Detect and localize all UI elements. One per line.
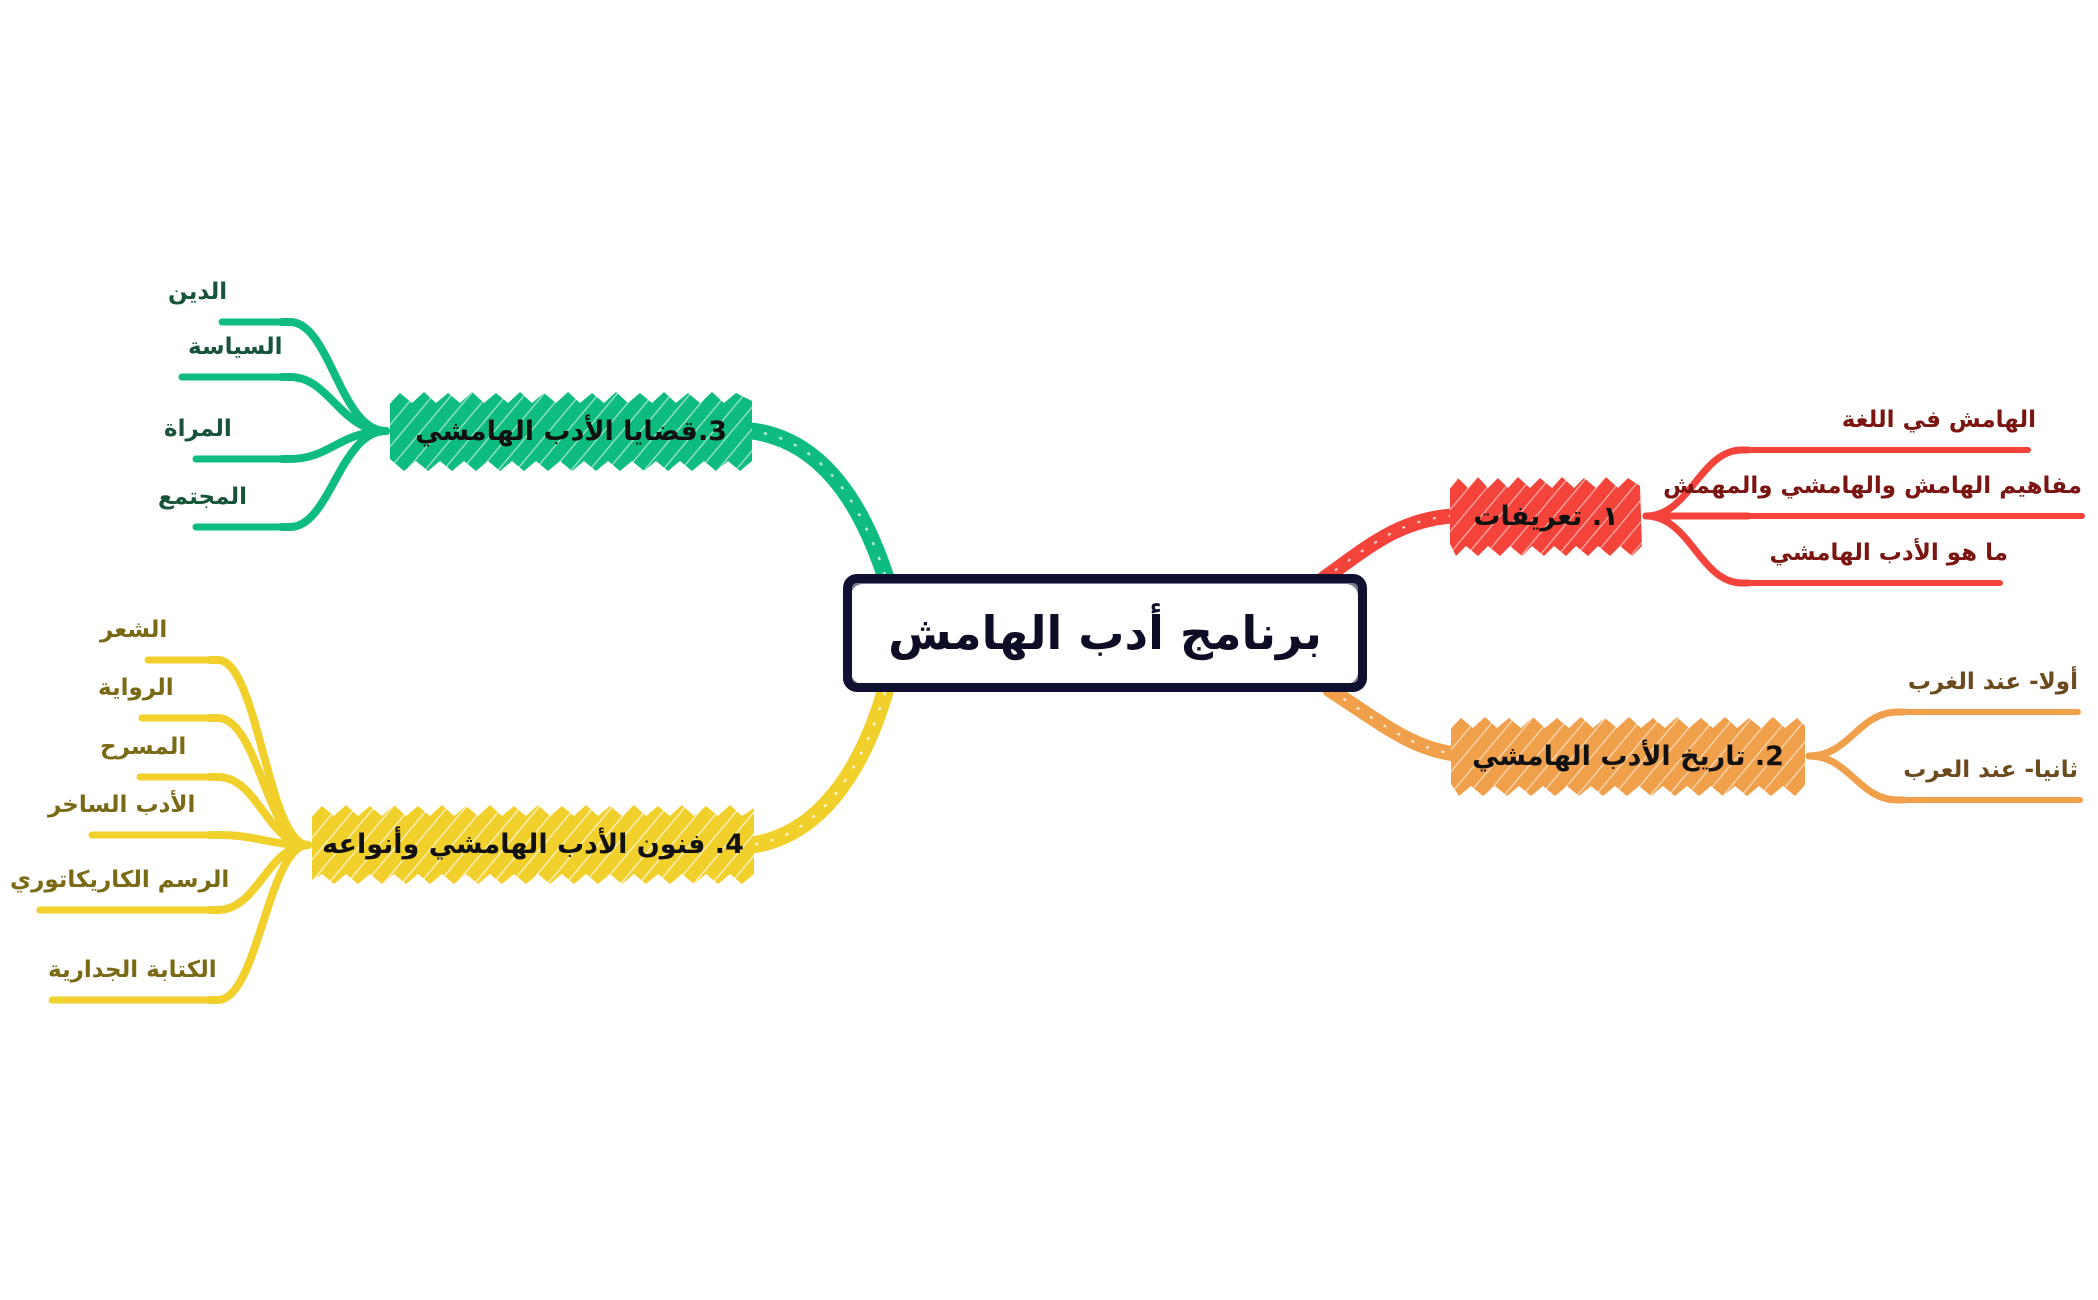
leaf-label: المراة [164,417,232,447]
branch-label-arts: 4. فنون الأدب الهامشي وأنواعه [300,829,766,860]
leaf-label: الرواية [98,676,174,706]
root-node[interactable]: برنامج أدب الهامش [843,574,1367,692]
leaf-arts-5[interactable]: الرسم الكاريكاتوري [10,868,229,898]
connector-root-to-definitions [1322,516,1452,580]
leaf-label: السياسة [188,335,283,365]
leaf-label: ثانيا- عند العرب [1903,758,2078,788]
leaf-label: الرسم الكاريكاتوري [10,868,229,898]
leaf-issues-1[interactable]: الدين [168,280,227,310]
leaf-label: الأدب الساخر [48,793,195,823]
branch-node-issues[interactable]: 3.قضايا الأدب الهامشي [386,385,756,477]
leaf-label: المجتمع [158,485,247,515]
connector-root-to-issues [752,431,885,575]
mindmap-canvas: برنامج أدب الهامش ١. تعريفات 2. تاريخ ال… [0,0,2098,1300]
leaf-arts-6[interactable]: الكتابة الجدارية [48,958,217,988]
branch-node-definitions[interactable]: ١. تعريفات [1446,470,1646,562]
connector-root-to-arts [752,692,885,845]
root-node-label: برنامج أدب الهامش [888,606,1322,660]
subconnectors-arts [40,660,308,1000]
branch-node-arts[interactable]: 4. فنون الأدب الهامشي وأنواعه [308,798,758,890]
branch-label-definitions: ١. تعريفات [1451,501,1640,532]
leaf-label: الهامش في اللغة [1842,408,2036,438]
leaf-definitions-1[interactable]: الهامش في اللغة [1842,408,2036,438]
leaf-arts-2[interactable]: الرواية [98,676,174,706]
branch-node-history[interactable]: 2. تاريخ الأدب الهامشي [1447,710,1809,802]
leaf-issues-4[interactable]: المجتمع [158,485,247,515]
leaf-label: أولا- عند الغرب [1908,670,2078,700]
leaf-label: الكتابة الجدارية [48,958,217,988]
leaf-history-2[interactable]: ثانيا- عند العرب [1903,758,2078,788]
branch-label-issues: 3.قضايا الأدب الهامشي [393,416,749,447]
branch-label-history: 2. تاريخ الأدب الهامشي [1450,741,1806,772]
leaf-label: مفاهيم الهامش والهامشي والمهمش [1663,474,2082,504]
leaf-label: الشعر [100,618,167,648]
leaf-arts-4[interactable]: الأدب الساخر [48,793,195,823]
leaf-arts-3[interactable]: المسرح [100,735,186,765]
leaf-definitions-2[interactable]: مفاهيم الهامش والهامشي والمهمش [1663,474,2082,504]
leaf-issues-3[interactable]: المراة [164,417,232,447]
leaf-issues-2[interactable]: السياسة [188,335,283,365]
leaf-arts-1[interactable]: الشعر [100,618,167,648]
leaf-label: ما هو الأدب الهامشي [1770,541,2008,571]
leaf-definitions-3[interactable]: ما هو الأدب الهامشي [1770,541,2008,571]
leaf-label: المسرح [100,735,186,765]
leaf-label: الدين [168,280,227,310]
connector-root-to-history [1330,690,1455,754]
leaf-history-1[interactable]: أولا- عند الغرب [1908,670,2078,700]
